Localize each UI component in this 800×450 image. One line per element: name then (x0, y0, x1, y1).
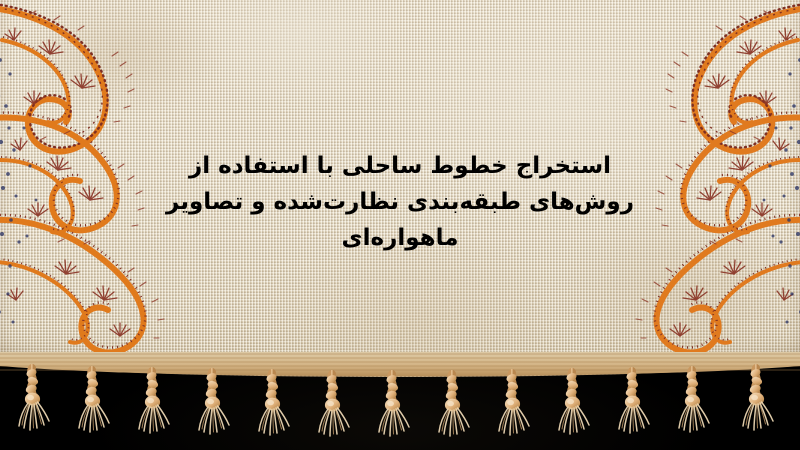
slide-title: استخراج خطوط ساحلی با استفاده از روش‌های… (0, 148, 800, 256)
title-slide: استخراج خطوط ساحلی با استفاده از روش‌های… (0, 0, 800, 450)
title-line-3: ماهواره‌ای (0, 220, 800, 256)
title-line-2: روش‌های طبقه‌بندی نظارت‌شده و تصاویر (0, 184, 800, 220)
title-line-1: استخراج خطوط ساحلی با استفاده از (0, 148, 800, 184)
